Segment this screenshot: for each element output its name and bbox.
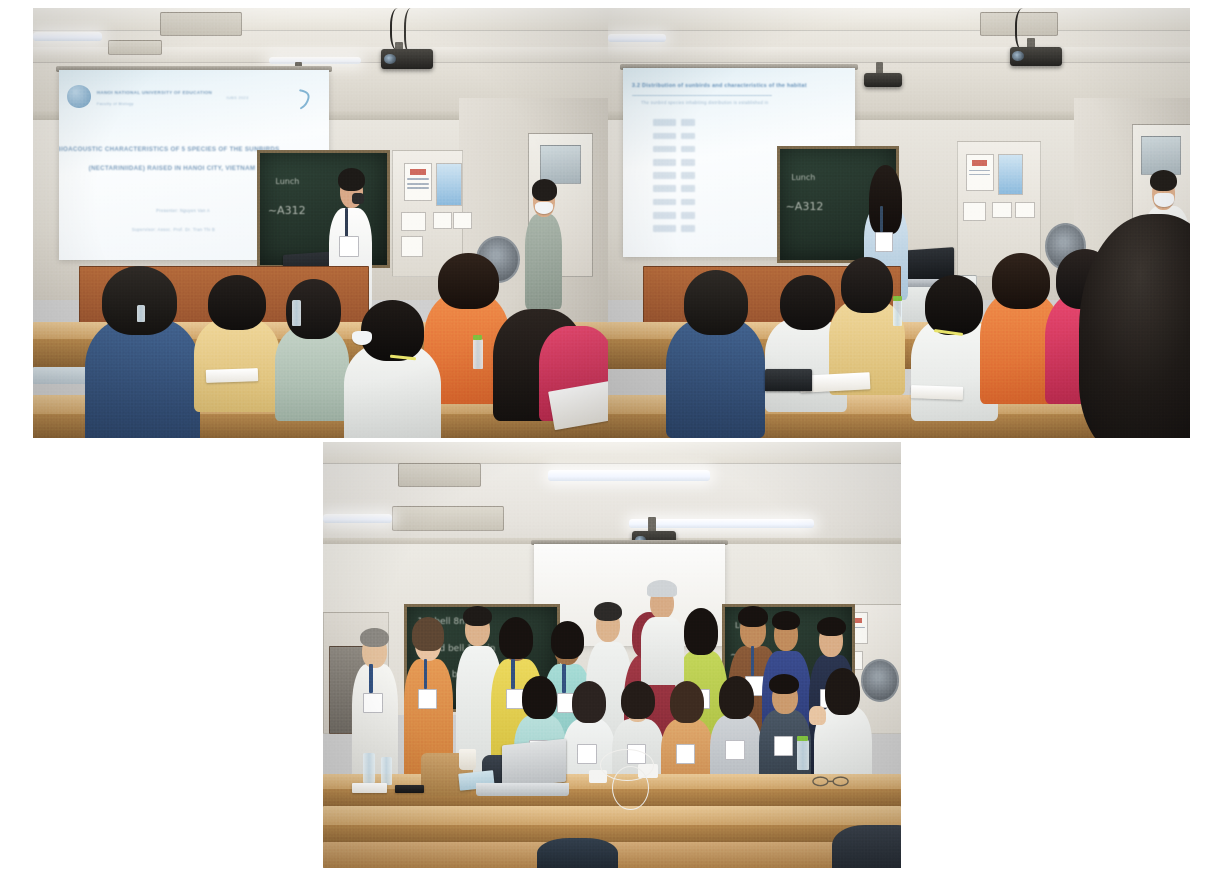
audience-head-4 <box>925 275 983 335</box>
ceiling-band <box>608 8 1190 31</box>
audience-head-1 <box>684 270 748 335</box>
slide-title-line-1: BIOACOUSTIC CHARACTERISTICS OF 5 SPECIES… <box>59 146 280 153</box>
attendant-body <box>525 214 562 309</box>
blackboard-text-lunch: Lunch <box>275 177 299 186</box>
person-hair-18 <box>825 668 860 715</box>
foreground-cap <box>537 838 618 868</box>
water-bottle-3 <box>797 740 809 770</box>
person-hair-17 <box>769 674 799 694</box>
ceiling-band-2 <box>608 47 1190 63</box>
slide-section-heading: 3.2 Distribution of sunbirds and charact… <box>632 83 807 89</box>
audience-head-5 <box>992 253 1050 309</box>
poster-notice-2 <box>998 154 1023 195</box>
audience-head-1 <box>102 266 177 335</box>
presenter-lanyard-strap <box>345 208 348 238</box>
projector-body-2 <box>864 73 902 88</box>
presenter-lanyard-strap <box>880 206 883 232</box>
poster-notice-2 <box>436 163 462 206</box>
audience-head-2 <box>780 275 835 331</box>
eyeglasses-icon <box>809 774 855 787</box>
audience-head-4 <box>438 253 498 309</box>
poster-notice-4 <box>992 202 1011 219</box>
attendant-hair <box>532 179 557 201</box>
person-hair-3 <box>463 606 492 626</box>
presenter-name-badge <box>339 236 358 257</box>
person-badge-1 <box>363 693 382 713</box>
slide-header-right: IUBS 2023 <box>226 95 248 100</box>
poster-notice-3 <box>401 212 426 231</box>
desk-papers-2 <box>910 385 963 400</box>
ceiling-vent <box>398 463 481 486</box>
audience-laptop <box>765 369 812 391</box>
ceiling-band <box>323 442 901 464</box>
audience-body-1 <box>85 318 200 438</box>
person-body-cap <box>641 617 684 685</box>
bottle-cap <box>473 335 482 340</box>
person-badge-15 <box>676 744 695 764</box>
person-lanyard-strap-1 <box>369 664 372 694</box>
audience-face-mask <box>352 331 372 346</box>
photo-lecture-right-scene: 3.2 Distribution of sunbirds and charact… <box>608 8 1190 438</box>
ceiling-vent-2 <box>108 40 162 55</box>
poster-notice-6 <box>401 236 423 257</box>
person-hair-16 <box>719 676 754 719</box>
blackboard-text-lunch: Lunch <box>791 173 815 182</box>
person-lanyard-strap-5 <box>562 664 565 694</box>
ceiling-light-1 <box>548 470 710 481</box>
water-bottle <box>893 300 902 326</box>
water-bottle-2 <box>381 757 393 785</box>
person-hair-5 <box>551 621 585 659</box>
wall-fan-icon <box>861 659 900 701</box>
presenter-hair <box>338 168 364 191</box>
person-hair-15 <box>670 681 705 724</box>
person-badge-2 <box>418 689 437 709</box>
slide-affiliation-line: Supervisor: Assoc. Prof. Dr. Tran Thi B <box>132 227 215 232</box>
person-hair-2 <box>412 617 444 651</box>
slide-sub-bullet: The sunbird species inhabiting distribut… <box>641 100 768 105</box>
ceiling-light-2 <box>269 57 361 64</box>
smartphone <box>352 783 387 794</box>
photo-group-scene: 1st bell 8min 2nd bell 10min 3rd bell ov… <box>323 442 901 868</box>
photo-lecture-left-scene: HANOI NATIONAL UNIVERSITY OF EDUCATION F… <box>33 8 608 438</box>
slide-header-org: HANOI NATIONAL UNIVERSITY OF EDUCATION <box>97 90 212 95</box>
audience-head-2 <box>208 275 266 331</box>
water-bottle-1 <box>363 753 375 783</box>
desk-papers <box>205 368 257 383</box>
poster-notice-1 <box>404 163 432 202</box>
person-hair-1 <box>360 628 389 648</box>
ceiling-band <box>33 8 608 31</box>
slide-header-sub: Faculty of Biology <box>97 101 134 106</box>
person-hair-14 <box>621 681 655 719</box>
photo-lecture-right: 3.2 Distribution of sunbirds and charact… <box>608 8 1190 438</box>
charging-cable <box>612 766 649 811</box>
audience-head-5 <box>361 300 424 360</box>
ceiling-light-3 <box>629 519 814 528</box>
paper-coffee-cup <box>459 749 476 770</box>
poster-notice-1 <box>966 154 994 190</box>
document-page: HANOI NATIONAL UNIVERSITY OF EDUCATION F… <box>0 0 1225 875</box>
ceiling-vent <box>160 12 243 36</box>
blackboard-text-room: ~A312 <box>268 204 306 217</box>
microphone-icon <box>352 193 364 204</box>
person-lanyard-strap-4 <box>511 659 514 689</box>
presenter-hair <box>869 165 902 234</box>
water-bottle-2 <box>137 305 145 322</box>
foreground-object <box>832 825 901 868</box>
person-badge-13 <box>577 744 596 764</box>
ceiling-vent-2 <box>392 506 504 531</box>
ceiling-light-2 <box>323 514 392 523</box>
photo-lecture-left: HANOI NATIONAL UNIVERSITY OF EDUCATION F… <box>33 8 608 438</box>
projector-lens <box>384 54 397 64</box>
laptop-base <box>476 783 568 796</box>
ceiling-light <box>33 32 102 41</box>
presenter-name-badge <box>875 232 893 252</box>
slide-university-logo <box>67 85 91 108</box>
poster-notice-5 <box>1015 202 1034 219</box>
person-hair-4 <box>499 617 534 660</box>
attendant-face-mask <box>1154 193 1174 207</box>
person-hair-11 <box>817 617 846 637</box>
water-bottle <box>292 300 301 326</box>
slide-title-line-2: (NECTARINIIDAE) RAISED IN HANOI CITY, VI… <box>89 165 256 172</box>
water-bottle-3 <box>473 339 483 369</box>
poster-notice-5 <box>453 212 472 229</box>
bottle-cap <box>797 736 808 741</box>
ceiling-light <box>608 34 666 43</box>
person-hair-10 <box>772 611 801 631</box>
slide-underline <box>632 95 772 97</box>
person-hair-9 <box>738 606 768 627</box>
person-hair-6 <box>594 602 623 622</box>
audience-body-1 <box>666 318 765 438</box>
audience-head-3 <box>841 257 893 313</box>
person-badge-16 <box>725 740 744 760</box>
person-hair-13 <box>572 681 607 724</box>
attendant-hair <box>1150 170 1177 192</box>
person-lanyard-strap-2 <box>424 659 427 689</box>
bottle-cap <box>893 296 901 301</box>
photo-group: 1st bell 8min 2nd bell 10min 3rd bell ov… <box>323 442 901 868</box>
audience-body-2 <box>194 318 280 413</box>
poster-notice-4 <box>433 212 452 229</box>
person-badge-17 <box>774 736 793 756</box>
blackboard-text-room: ~A312 <box>786 200 824 213</box>
smartphone-2 <box>395 785 424 794</box>
poster-notice-3 <box>963 202 986 221</box>
audience-body-3 <box>275 326 350 421</box>
person-hair-8 <box>684 608 719 655</box>
slide-mark-icon <box>297 87 313 112</box>
desk-row-2-top <box>323 806 901 827</box>
white-cap-icon <box>647 580 677 597</box>
person-hair-12 <box>522 676 557 719</box>
peace-sign-hand-icon <box>809 706 826 725</box>
person-lanyard-strap-9 <box>751 646 754 676</box>
laptop-screen <box>502 739 566 788</box>
door-window <box>540 145 581 184</box>
slide-presenter-line: Presenter: Nguyen Van A <box>156 208 210 213</box>
